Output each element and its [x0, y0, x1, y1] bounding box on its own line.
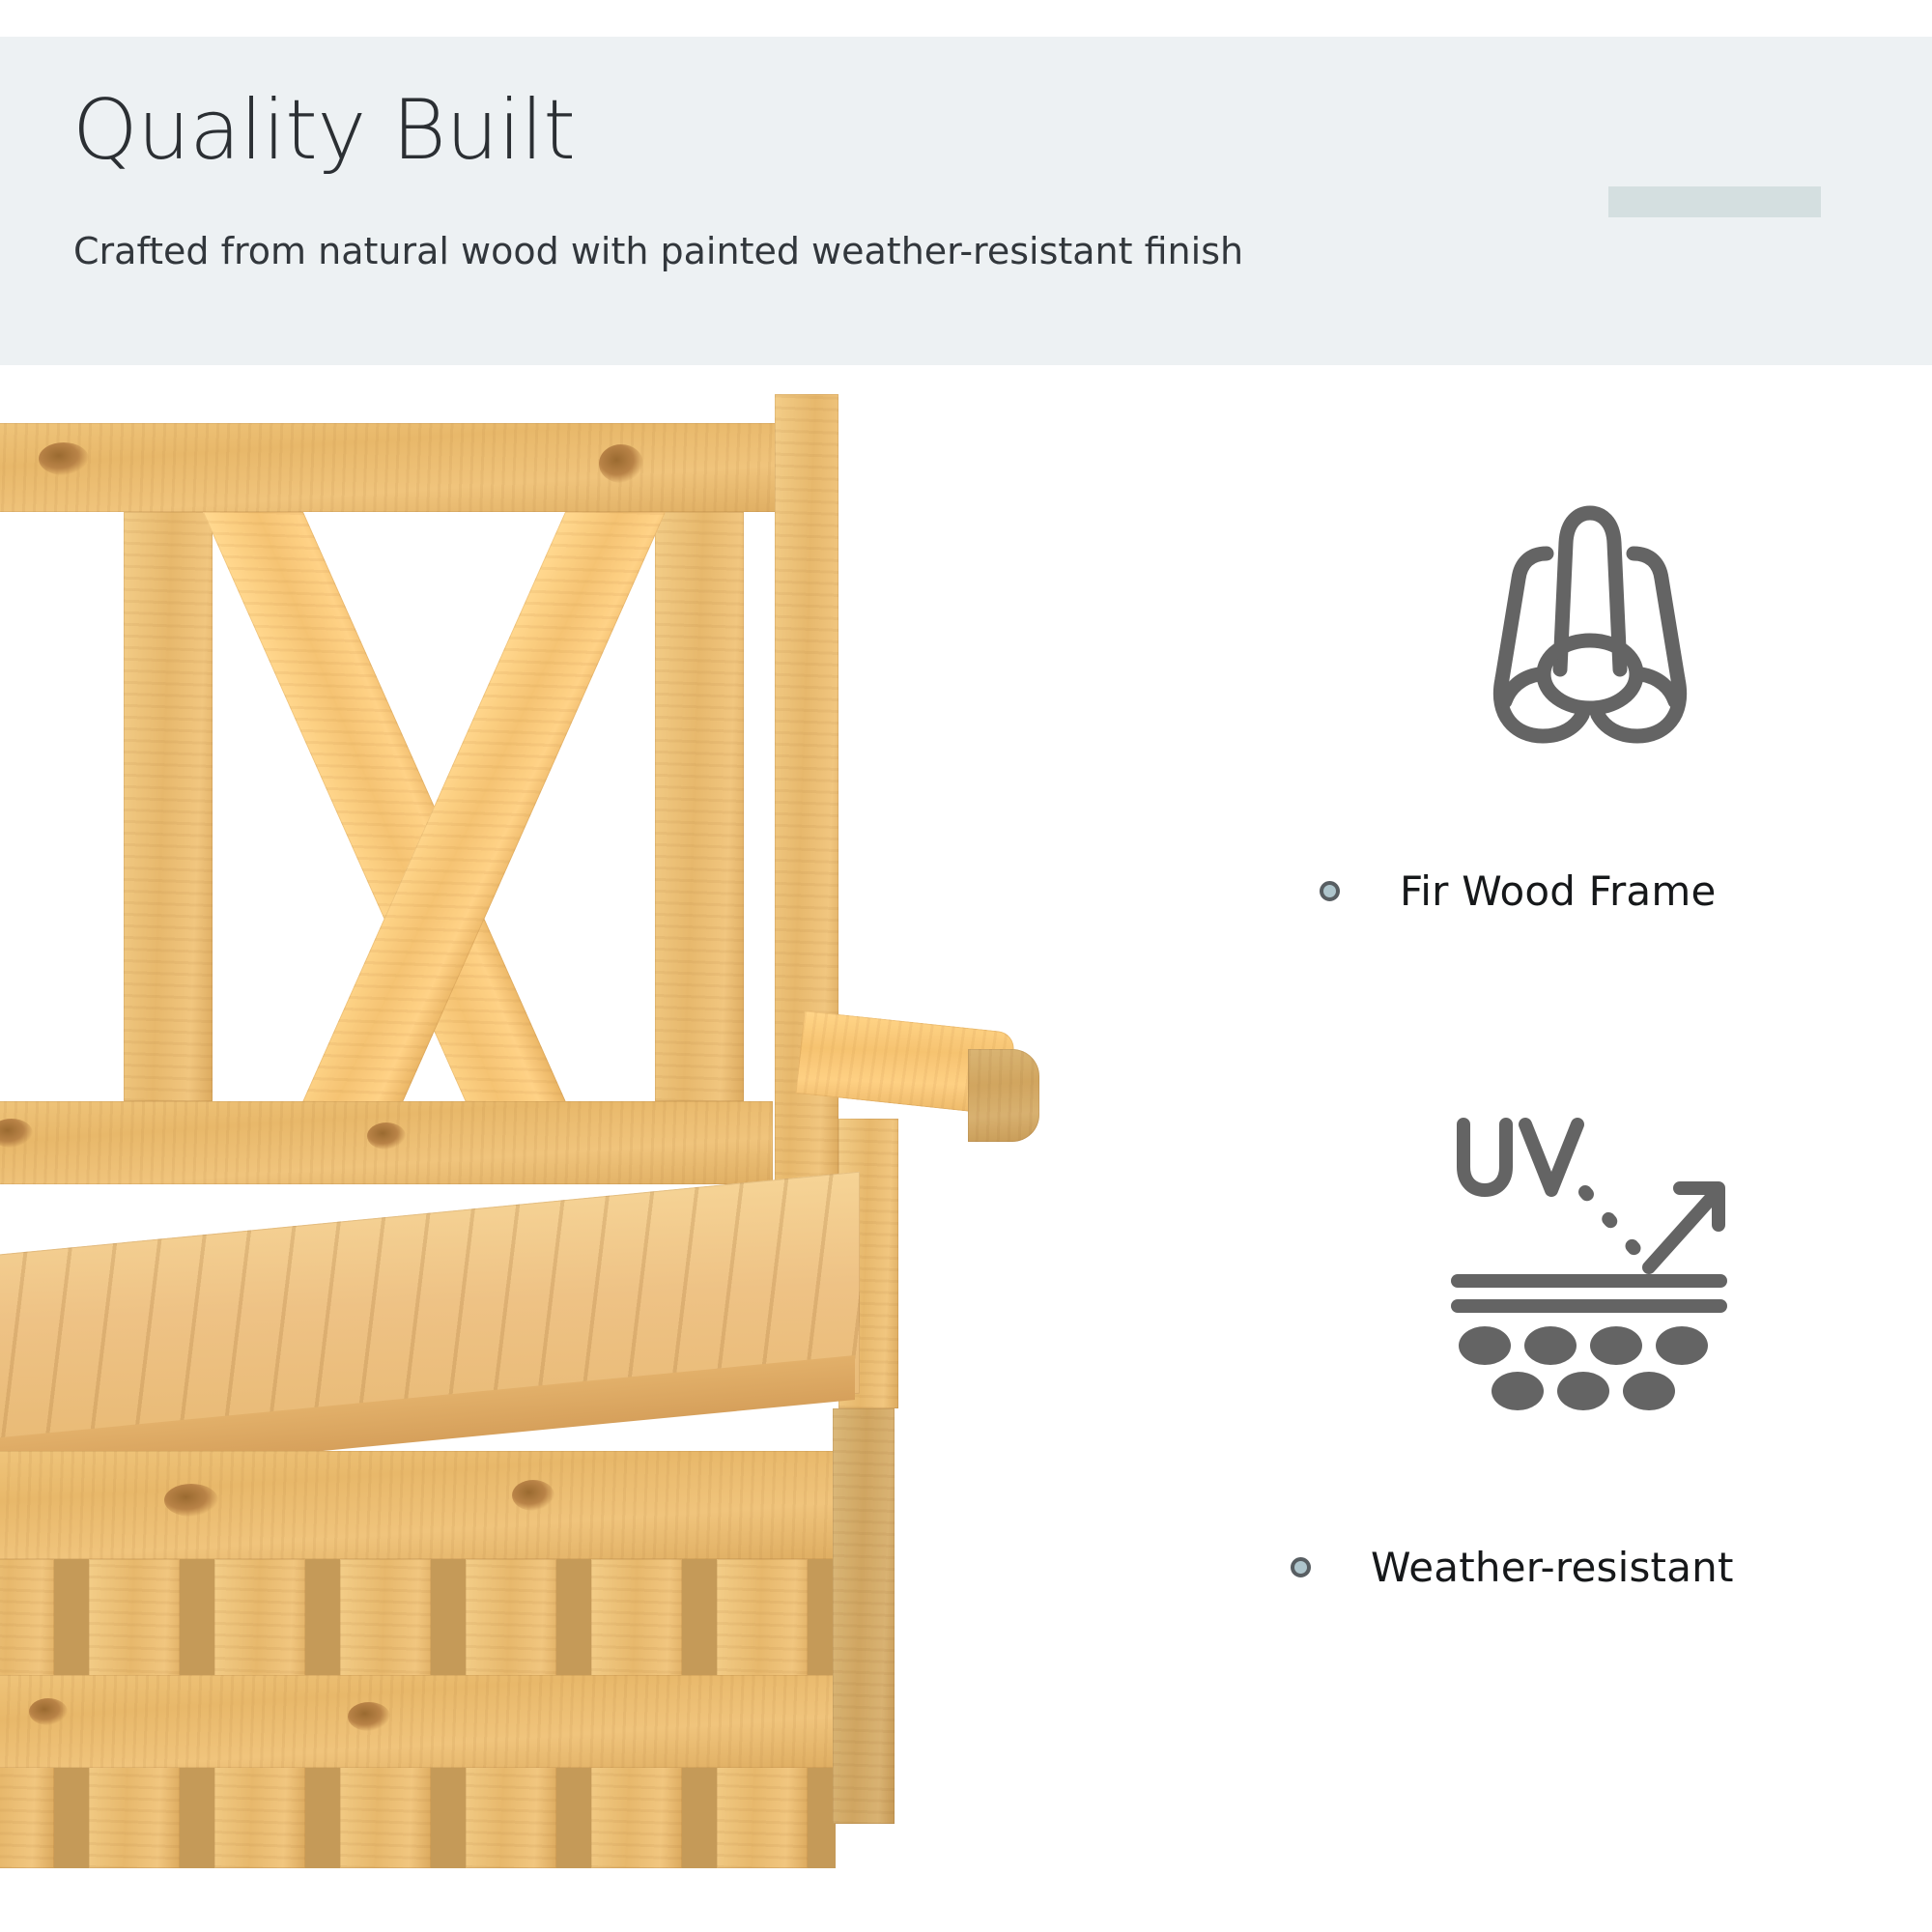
storage-box-right-panel: [833, 1408, 895, 1824]
feature-label: Weather-resistant: [1371, 1544, 1734, 1591]
backrest-slat: [124, 512, 213, 1101]
wood-logs-icon: [1444, 481, 1734, 771]
product-image: [0, 365, 1246, 1932]
page-subtitle: Crafted from natural wood with painted w…: [73, 232, 1243, 272]
uv-icon-wrap: [1246, 1099, 1932, 1418]
bullet-icon: [1320, 881, 1340, 901]
storage-box-bottom-rail: [0, 1675, 836, 1768]
backrest-slat: [655, 512, 744, 1101]
feature-label-row: Weather-resistant: [1246, 1544, 1932, 1591]
infographic-canvas: Quality Built Crafted from natural wood …: [0, 0, 1932, 1932]
armrest-end-cap: [968, 1049, 1039, 1142]
feature-list: Fir Wood Frame: [1246, 365, 1932, 1932]
bullet-icon: [1291, 1557, 1311, 1577]
wooden-storage-bench-illustration: [0, 384, 1188, 1833]
feature-label-row: Fir Wood Frame: [1246, 867, 1932, 915]
feature-label: Fir Wood Frame: [1400, 867, 1717, 915]
wood-logs-icon-wrap: [1246, 481, 1932, 771]
storage-box-top-rail: [0, 1451, 836, 1559]
uv-weather-resistant-icon: [1425, 1099, 1753, 1418]
backrest-top-rail: [0, 423, 802, 512]
page-title: Quality Built: [72, 89, 575, 172]
header-accent-bar: [1608, 186, 1821, 217]
